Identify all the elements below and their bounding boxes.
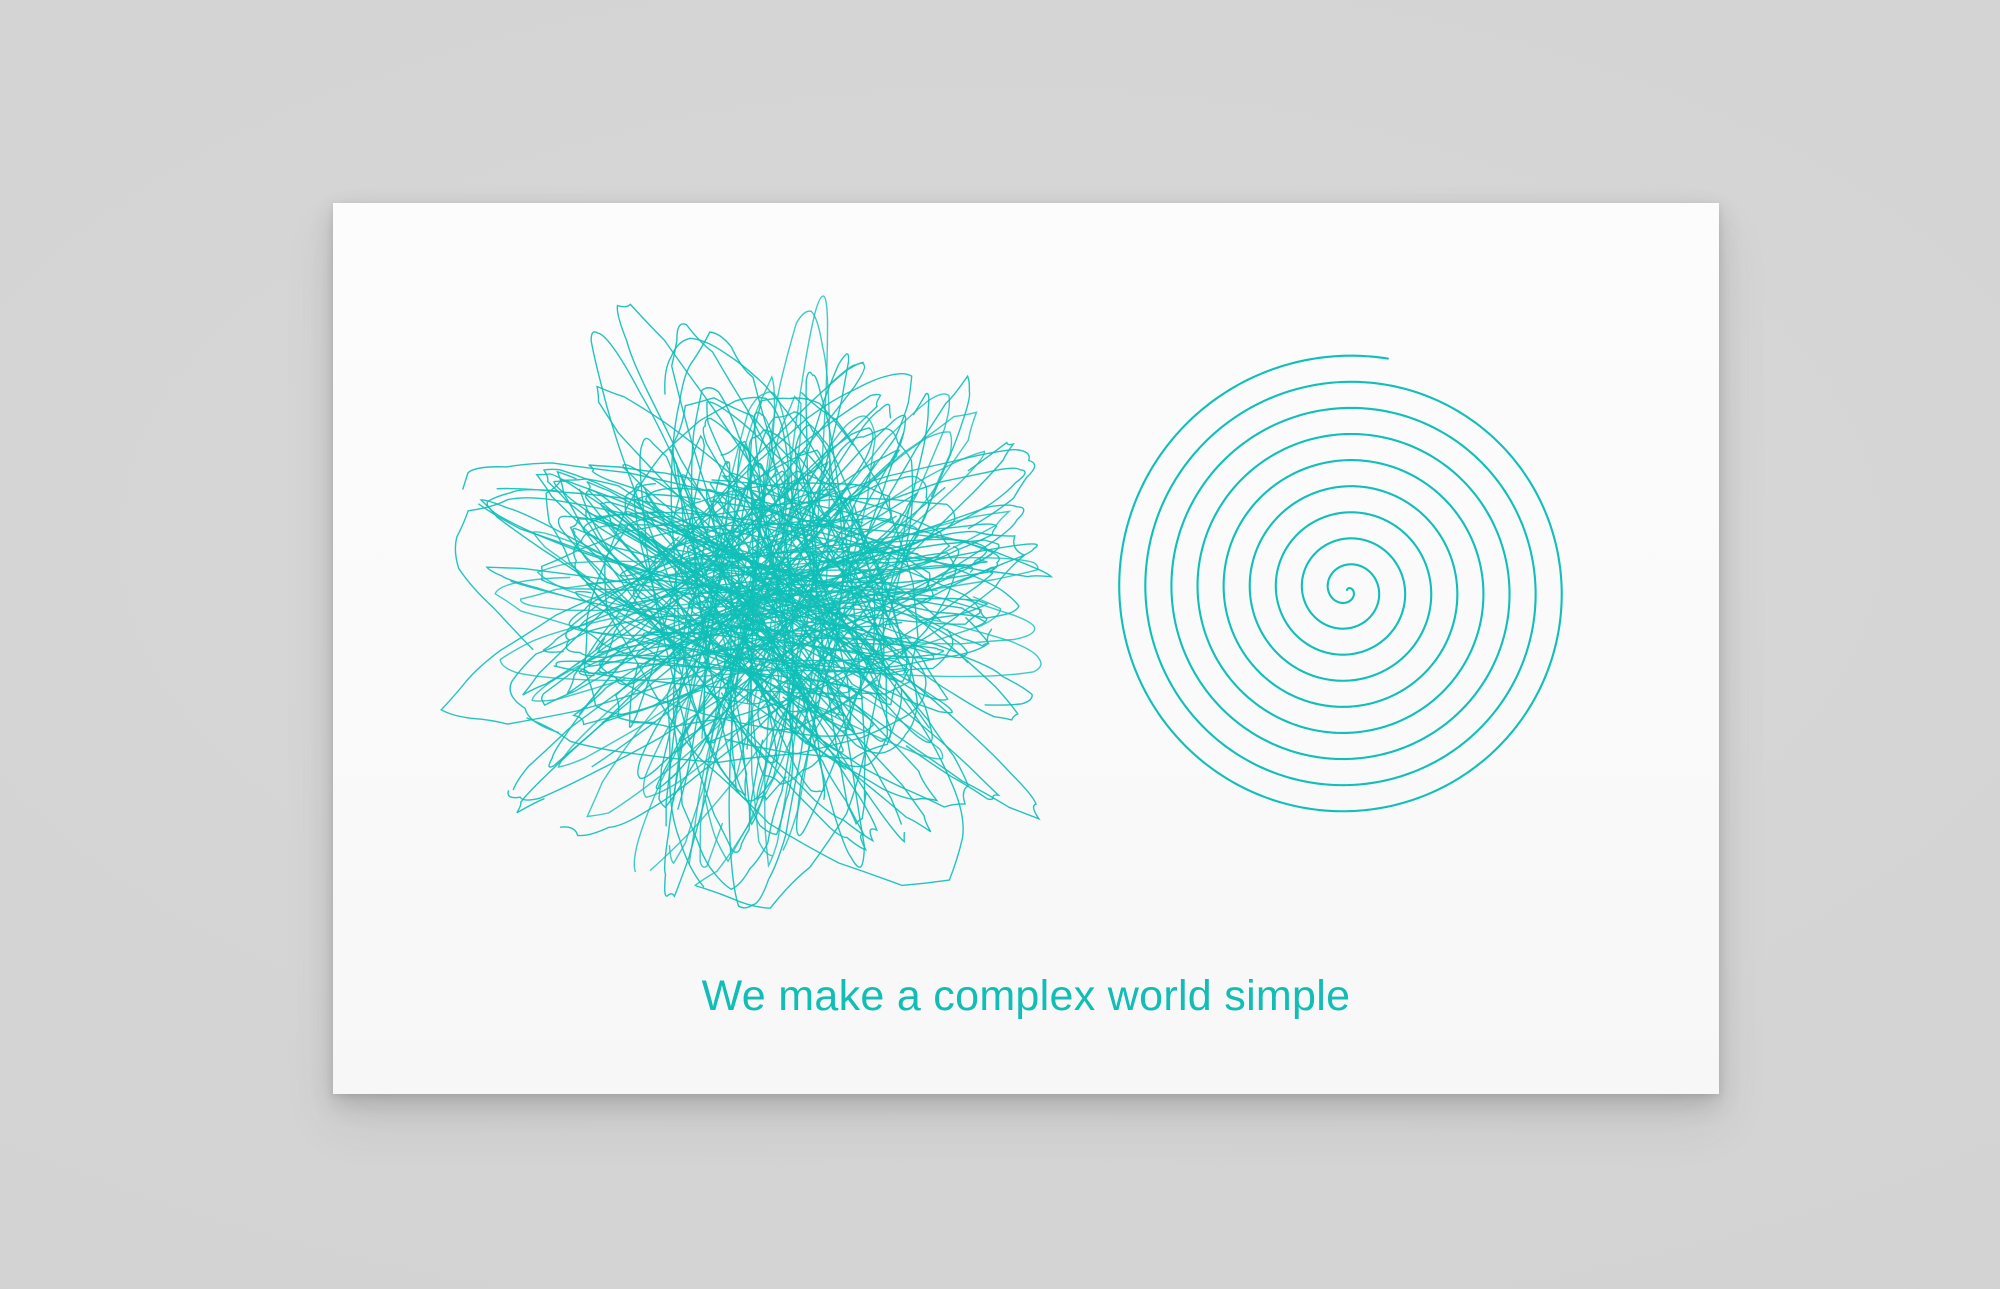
tagline-text: We make a complex world simple xyxy=(333,972,1719,1021)
poster-stage: We make a complex world simple xyxy=(0,0,2000,1289)
archimedean-spiral-icon xyxy=(333,203,1719,1094)
poster-card: We make a complex world simple xyxy=(333,203,1719,1094)
tangled-scribble-ball-icon xyxy=(333,203,1719,1094)
